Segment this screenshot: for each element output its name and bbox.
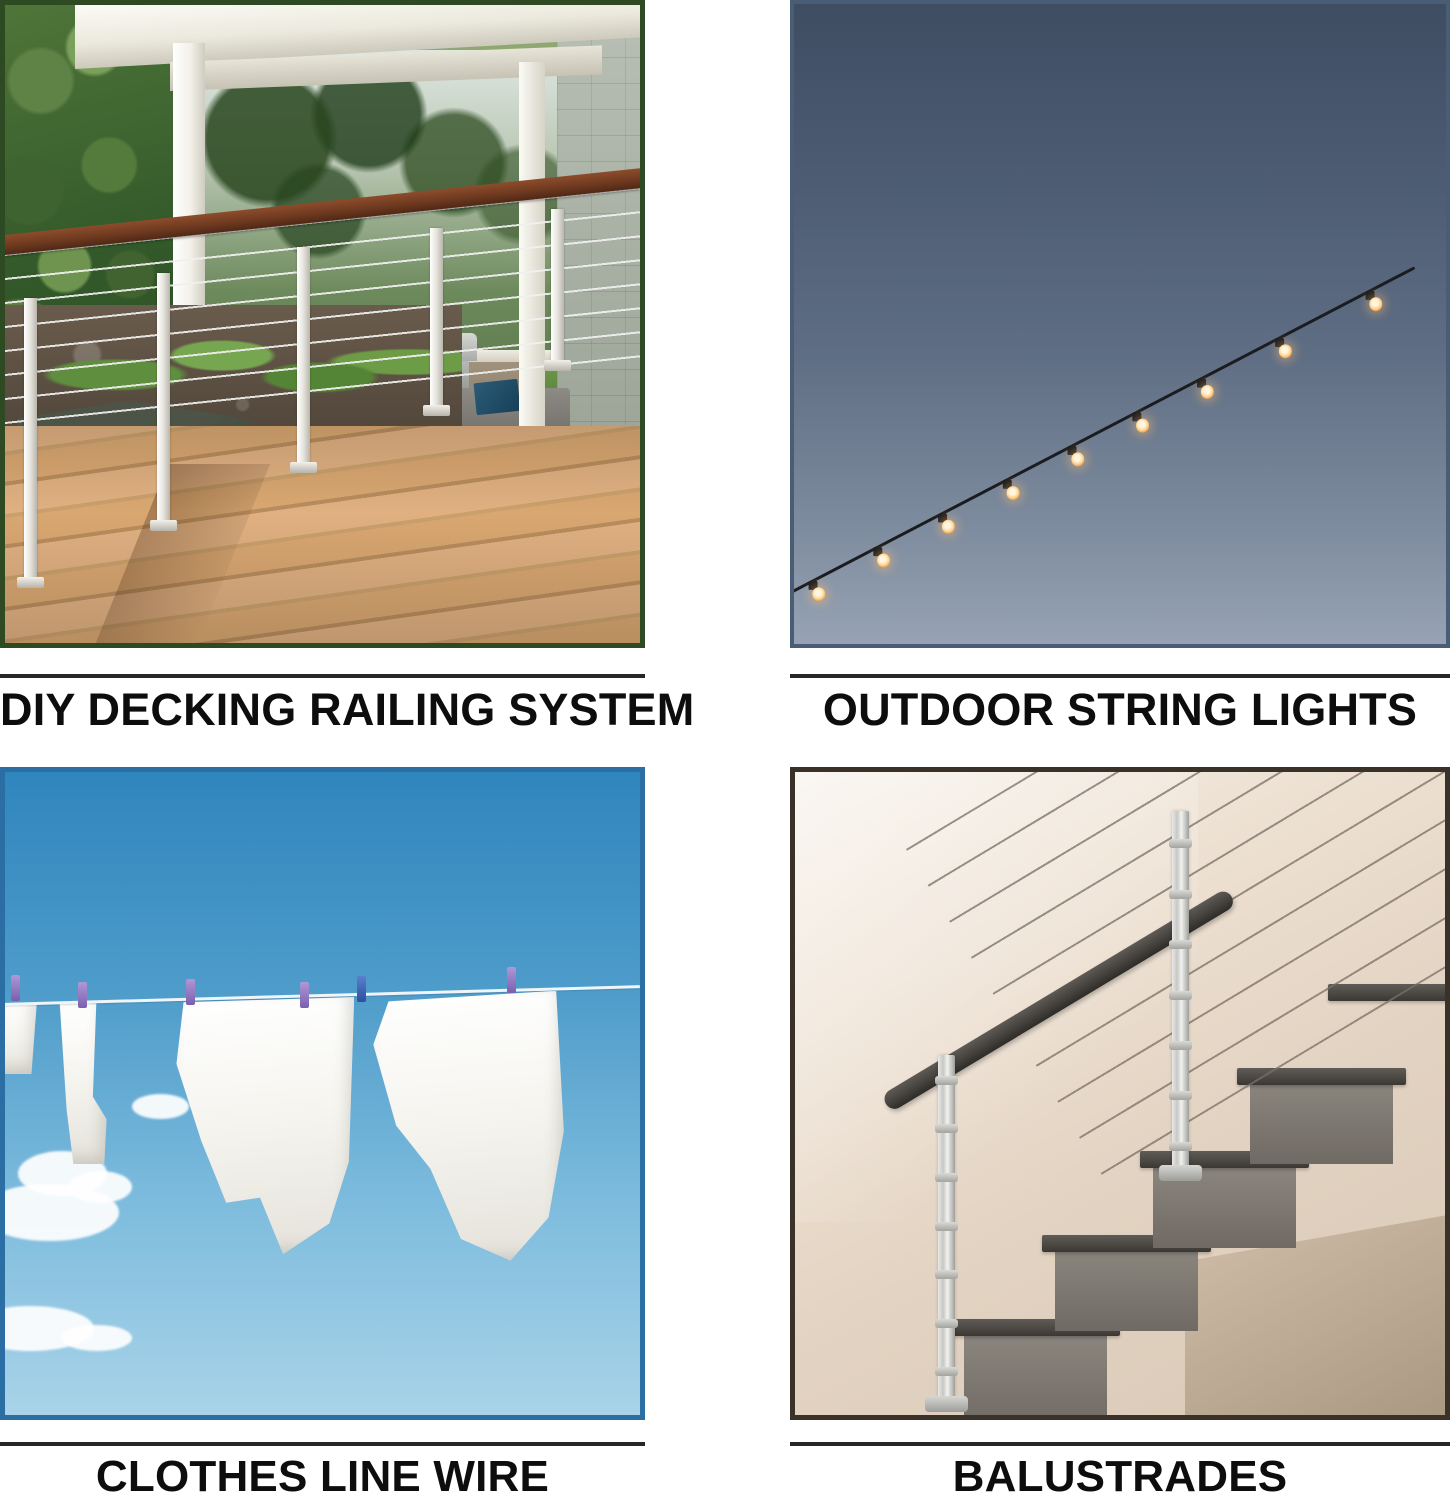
railing-post [157, 273, 170, 522]
panel-cell-balustrades [790, 767, 1450, 1420]
balustrade-post [1172, 811, 1189, 1171]
caption-cell-diy-decking: DIY DECKING RAILING SYSTEM [0, 648, 645, 767]
stair-riser [1055, 1241, 1198, 1331]
gutter-column-captions [645, 648, 790, 767]
image-balustrades [790, 767, 1450, 1420]
light-bulb [1194, 376, 1211, 394]
cloud [62, 1325, 132, 1351]
railing-post [430, 228, 443, 407]
gutter-column-bottom [645, 767, 790, 1420]
image-outdoor-string-lights [790, 0, 1450, 648]
caption-label-clothes-line-wire: CLOTHES LINE WIRE [0, 1452, 645, 1502]
panel-cell-clothes-line-wire [0, 767, 645, 1420]
caption-outdoor-string-lights: OUTDOOR STRING LIGHTS [790, 648, 1450, 767]
caption-clothes-line-wire: CLOTHES LINE WIRE [0, 1420, 645, 1500]
caption-divider [0, 1442, 645, 1446]
caption-cell-clothes-line-wire: CLOTHES LINE WIRE [0, 1420, 645, 1500]
caption-balustrades: BALUSTRADES [790, 1420, 1450, 1500]
caption-diy-decking-railing-system: DIY DECKING RAILING SYSTEM [0, 648, 645, 767]
railing-post [297, 247, 310, 464]
image-diy-decking-railing-system [0, 0, 645, 648]
clothespin [300, 982, 309, 1008]
cloud [132, 1094, 189, 1120]
deck-scene [5, 5, 640, 643]
caption-label-outdoor-string-lights: OUTDOOR STRING LIGHTS [790, 684, 1450, 736]
gutter-column-captions-bottom [645, 1420, 790, 1500]
caption-cell-outdoor-string-lights: OUTDOOR STRING LIGHTS [790, 648, 1450, 767]
image-clothes-line-wire [0, 767, 645, 1420]
hanging-garment [176, 997, 354, 1254]
product-category-grid: DIY DECKING RAILING SYSTEM OUTDOOR STRIN… [0, 0, 1450, 1500]
caption-label-balustrades: BALUSTRADES [790, 1452, 1450, 1502]
gutter-column-top [645, 0, 790, 648]
hanging-garment [49, 1003, 106, 1164]
hanging-garment [373, 991, 564, 1261]
caption-divider [790, 1442, 1450, 1446]
cloud [69, 1171, 133, 1203]
light-bulb [871, 545, 888, 563]
railing-post [24, 298, 37, 579]
wood-deck-boards [5, 426, 640, 643]
panel-cell-diy-decking [0, 0, 645, 648]
balustrade-post [938, 1055, 955, 1402]
light-bulb [1000, 477, 1017, 495]
light-bulb [806, 579, 823, 597]
stair-riser [964, 1325, 1107, 1415]
clothespin [507, 967, 516, 993]
light-bulb [1130, 410, 1147, 428]
string-light-wire [794, 266, 1416, 606]
hanging-garment [5, 1003, 37, 1074]
caption-divider [790, 674, 1450, 678]
light-bulb [1272, 336, 1289, 354]
balustrade-scene [795, 772, 1445, 1415]
clothespin [186, 979, 195, 1005]
panel-cell-outdoor-string-lights [790, 0, 1450, 648]
caption-cell-balustrades: BALUSTRADES [790, 1420, 1450, 1500]
light-bulb [1065, 444, 1082, 462]
light-bulb [1363, 289, 1380, 307]
clothespin [357, 976, 366, 1002]
railing-post [551, 209, 564, 362]
clothespin [78, 982, 87, 1008]
caption-label-diy-decking: DIY DECKING RAILING SYSTEM [0, 684, 645, 736]
clothesline-scene [5, 772, 640, 1415]
caption-divider [0, 674, 645, 678]
light-bulb [935, 511, 952, 529]
string-lights-scene [794, 4, 1446, 644]
clothespin [11, 975, 20, 1001]
